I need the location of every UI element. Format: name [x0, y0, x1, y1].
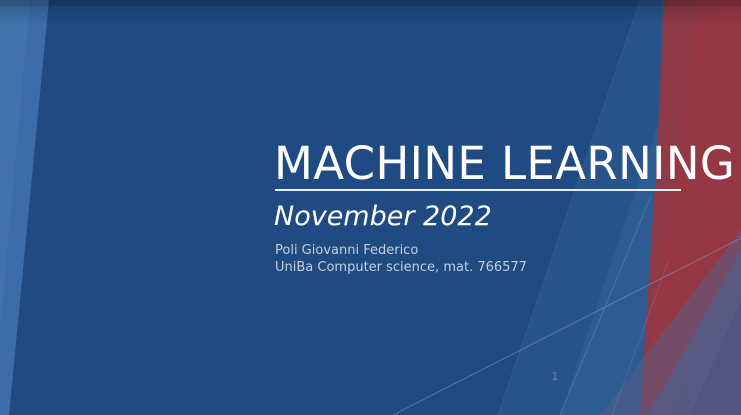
page-title: MACHINE LEARNING [274, 139, 735, 189]
slide-subtitle: November 2022 [274, 200, 492, 234]
title-underline-rule [275, 189, 681, 191]
author-name: Poli Giovanni Federico [275, 243, 527, 260]
slide-text-layer: MACHINE LEARNING November 2022 Poli Giov… [0, 0, 741, 415]
presentation-title-slide: MACHINE LEARNING November 2022 Poli Giov… [0, 0, 741, 415]
slide-number: 1 [548, 370, 562, 384]
author-block: Poli Giovanni Federico UniBa Computer sc… [275, 243, 527, 276]
author-affiliation: UniBa Computer science, mat. 766577 [275, 260, 527, 277]
